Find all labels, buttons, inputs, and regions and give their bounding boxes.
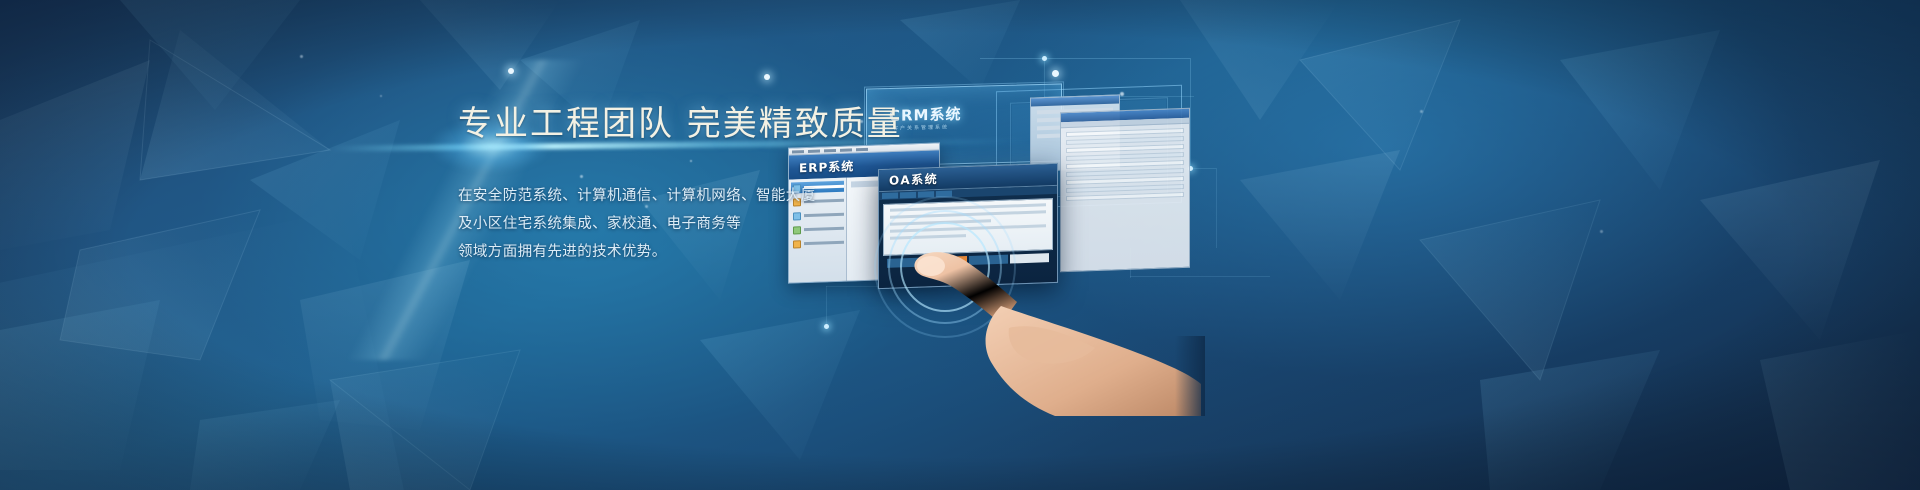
bokeh-dot	[1120, 92, 1124, 96]
paragraph-line-3: 领域方面拥有先进的技术优势。	[458, 238, 928, 266]
circuit-trace	[1216, 168, 1217, 248]
bokeh-dot	[1052, 70, 1059, 77]
circuit-node	[1042, 56, 1047, 61]
data-grid	[1061, 124, 1189, 208]
bokeh-dot	[300, 55, 303, 58]
bokeh-dot	[764, 74, 770, 80]
page-title: 专业工程团队 完美精致质量	[458, 104, 928, 144]
circuit-trace	[826, 286, 827, 326]
bokeh-dot	[1600, 230, 1603, 233]
hero-paragraph: 在安全防范系统、计算机通信、计算机网络、智能大厦 及小区住宅系统集成、家校通、电…	[458, 182, 928, 266]
grid-row	[1066, 192, 1184, 201]
circuit-trace	[1190, 58, 1191, 170]
status-tile-notice[interactable]	[969, 255, 1008, 265]
touch-point-glow	[936, 258, 958, 280]
titlebar	[1031, 95, 1119, 106]
paragraph-line-2: 及小区住宅系统集成、家校通、电子商务等	[458, 210, 928, 238]
circuit-node	[824, 324, 829, 329]
status-tile-archive[interactable]	[1010, 253, 1049, 263]
tab-message[interactable]	[936, 191, 952, 198]
hero-banner: CRM系统 客户关系管理系统	[0, 0, 1920, 490]
circuit-trace	[1130, 276, 1270, 277]
hero-text-block: 专业工程团队 完美精致质量 在安全防范系统、计算机通信、计算机网络、智能大厦 及…	[458, 104, 928, 266]
paragraph-line-1: 在安全防范系统、计算机通信、计算机网络、智能大厦	[458, 182, 928, 210]
bokeh-dot	[1420, 110, 1423, 113]
circuit-trace	[980, 58, 1190, 59]
management-platform-window[interactable]	[1060, 108, 1190, 273]
